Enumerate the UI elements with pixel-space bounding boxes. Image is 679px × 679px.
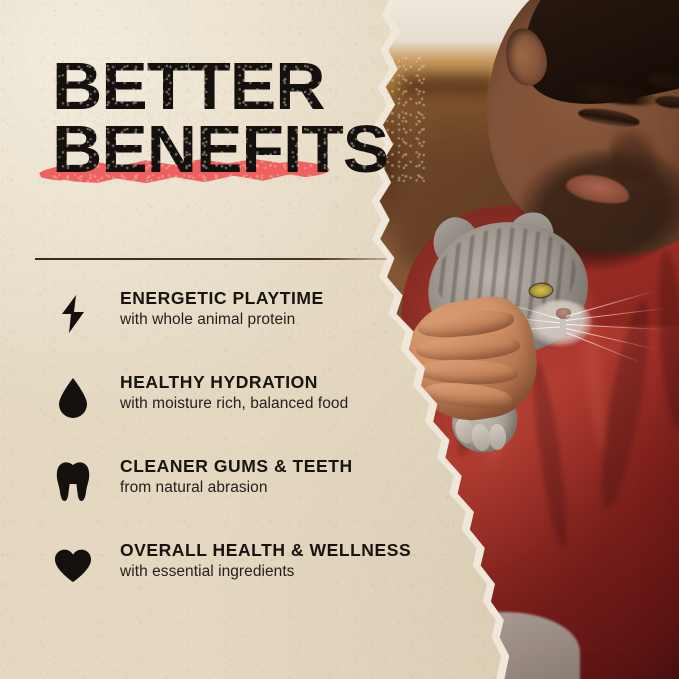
benefit-subtitle: with essential ingredients xyxy=(120,560,411,583)
benefit-subtitle: with whole animal protein xyxy=(120,308,324,331)
benefits-list: ENERGETIC PLAYTIME with whole animal pro… xyxy=(52,288,452,624)
benefit-item-healthy-hydration: HEALTHY HYDRATION with moisture rich, ba… xyxy=(52,372,452,456)
heart-icon xyxy=(52,544,94,588)
content-layer: BETTER BENEFITS ENERGETIC PLAYTIME with … xyxy=(0,0,679,679)
benefit-subtitle: from natural abrasion xyxy=(120,476,353,499)
benefit-title: CLEANER GUMS & TEETH xyxy=(120,456,353,476)
benefit-title: OVERALL HEALTH & WELLNESS xyxy=(120,540,411,560)
headline-block: BETTER BENEFITS xyxy=(52,56,412,182)
benefit-text: ENERGETIC PLAYTIME with whole animal pro… xyxy=(120,288,324,331)
lightning-bolt-icon xyxy=(52,292,94,336)
benefit-title: HEALTHY HYDRATION xyxy=(120,372,348,392)
benefit-item-energetic-playtime: ENERGETIC PLAYTIME with whole animal pro… xyxy=(52,288,452,372)
benefit-item-overall-health-wellness: OVERALL HEALTH & WELLNESS with essential… xyxy=(52,540,452,624)
tooth-icon xyxy=(52,460,94,504)
benefit-text: CLEANER GUMS & TEETH from natural abrasi… xyxy=(120,456,353,499)
headline-line-2: BENEFITS xyxy=(52,119,426,182)
water-droplet-icon xyxy=(52,376,94,420)
benefit-item-cleaner-gums-teeth: CLEANER GUMS & TEETH from natural abrasi… xyxy=(52,456,452,540)
advertisement-panel: BETTER BENEFITS ENERGETIC PLAYTIME with … xyxy=(0,0,679,679)
headline-line-1: BETTER xyxy=(52,56,426,119)
benefit-subtitle: with moisture rich, balanced food xyxy=(120,392,348,415)
headline-line-2-wrapper: BENEFITS xyxy=(52,119,412,182)
benefit-text: HEALTHY HYDRATION with moisture rich, ba… xyxy=(120,372,348,415)
horizontal-divider xyxy=(35,258,387,260)
benefit-text: OVERALL HEALTH & WELLNESS with essential… xyxy=(120,540,411,583)
benefit-title: ENERGETIC PLAYTIME xyxy=(120,288,324,308)
